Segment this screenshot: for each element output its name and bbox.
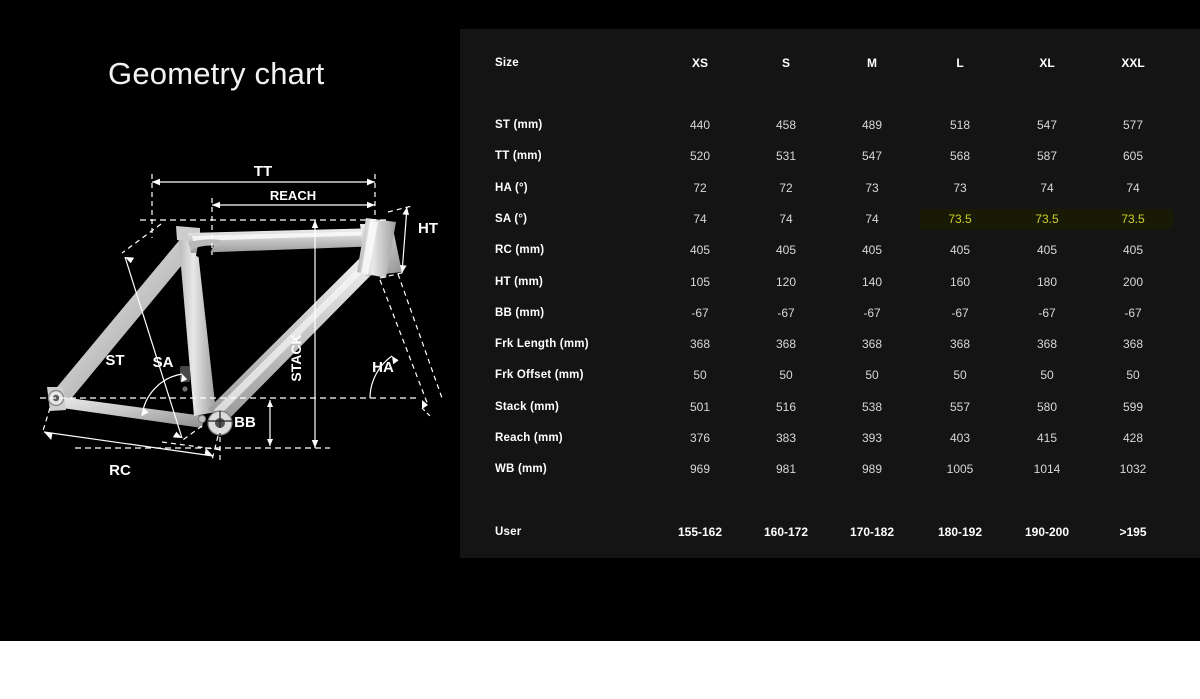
label-bb: BB — [234, 414, 256, 431]
label-reach: REACH — [270, 188, 316, 203]
cell-sa-m: 74 — [827, 206, 917, 232]
cell-user-m: 170-182 — [827, 519, 917, 545]
row-label-tt-mm: TT (mm) — [495, 143, 542, 169]
cell-reach-mm-xl: 415 — [1002, 425, 1092, 451]
page-title: Geometry chart — [108, 56, 324, 92]
cell-bb-mm-xs: -67 — [655, 300, 745, 326]
row-label-ht-mm: HT (mm) — [495, 269, 543, 295]
label-ht: HT — [418, 220, 438, 237]
row-label-wb-mm: WB (mm) — [495, 456, 547, 482]
cell-bb-mm-l: -67 — [915, 300, 1005, 326]
cell-frk-offset-mm-xxl: 50 — [1088, 362, 1178, 388]
table-row: BB (mm)-67-67-67-67-67-67 — [460, 300, 1200, 326]
table-row: ST (mm)440458489518547577 — [460, 112, 1200, 138]
cell-ht-mm-s: 120 — [741, 269, 831, 295]
label-stack: STACK — [288, 334, 304, 381]
cell-rc-mm-m: 405 — [827, 237, 917, 263]
cell-tt-mm-m: 547 — [827, 143, 917, 169]
cell-reach-mm-s: 383 — [741, 425, 831, 451]
cell-tt-mm-xxl: 605 — [1088, 143, 1178, 169]
cell-frk-length-mm-xl: 368 — [1002, 331, 1092, 357]
cell-ha-xs: 72 — [655, 175, 745, 201]
cell-ht-mm-m: 140 — [827, 269, 917, 295]
cell-wb-mm-s: 981 — [741, 456, 831, 482]
cell-tt-mm-xl: 587 — [1002, 143, 1092, 169]
cell-wb-mm-xs: 969 — [655, 456, 745, 482]
cell-rc-mm-xxl: 405 — [1088, 237, 1178, 263]
cell-st-mm-m: 489 — [827, 112, 917, 138]
cell-ht-mm-xxl: 200 — [1088, 269, 1178, 295]
cell-sa-xl: 73.5 — [1002, 206, 1092, 232]
table-row: SA (°)74747473.573.573.5 — [460, 206, 1200, 232]
cell-reach-mm-m: 393 — [827, 425, 917, 451]
column-header-s: S — [741, 50, 831, 76]
table-user-row: User155-162160-172170-182180-192190-200>… — [460, 519, 1200, 545]
row-label-ha: HA (°) — [495, 175, 528, 201]
cell-stack-mm-xl: 580 — [1002, 394, 1092, 420]
row-label-bb-mm: BB (mm) — [495, 300, 544, 326]
cell-sa-s: 74 — [741, 206, 831, 232]
cell-frk-offset-mm-xs: 50 — [655, 362, 745, 388]
cell-stack-mm-l: 557 — [915, 394, 1005, 420]
cell-ht-mm-xs: 105 — [655, 269, 745, 295]
cell-user-l: 180-192 — [915, 519, 1005, 545]
cell-bb-mm-xl: -67 — [1002, 300, 1092, 326]
cell-rc-mm-xs: 405 — [655, 237, 745, 263]
cell-stack-mm-xxl: 599 — [1088, 394, 1178, 420]
table-row: HT (mm)105120140160180200 — [460, 269, 1200, 295]
bottom-white-band — [0, 641, 1200, 699]
cell-sa-xs: 74 — [655, 206, 745, 232]
row-label-rc-mm: RC (mm) — [495, 237, 544, 263]
table-row: TT (mm)520531547568587605 — [460, 143, 1200, 169]
row-label-frk-offset-mm: Frk Offset (mm) — [495, 362, 584, 388]
column-header-xs: XS — [655, 50, 745, 76]
frame-tubes — [47, 218, 402, 435]
cell-rc-mm-s: 405 — [741, 237, 831, 263]
cell-frk-length-mm-xxl: 368 — [1088, 331, 1178, 357]
dark-stage: Geometry chart — [0, 0, 1200, 641]
table-header-row: SizeXSSMLXLXXL — [460, 50, 1200, 76]
cell-sa-xxl: 73.5 — [1088, 206, 1178, 232]
cell-tt-mm-xs: 520 — [655, 143, 745, 169]
cell-frk-length-mm-s: 368 — [741, 331, 831, 357]
cell-ha-xxl: 74 — [1088, 175, 1178, 201]
geometry-table-panel: SizeXSSMLXLXXLST (mm)440458489518547577T… — [460, 29, 1200, 558]
cell-ha-xl: 74 — [1002, 175, 1092, 201]
geometry-table: SizeXSSMLXLXXLST (mm)440458489518547577T… — [460, 29, 1200, 558]
cell-st-mm-l: 518 — [915, 112, 1005, 138]
cell-sa-l: 73.5 — [915, 206, 1005, 232]
label-ha: HA — [372, 359, 394, 376]
row-label-user: User — [495, 519, 521, 545]
geometry-chart-screen: Geometry chart — [0, 0, 1200, 699]
dimension-labels: TT REACH HT ST SA STACK HA BB RC — [105, 163, 438, 479]
table-row: HA (°)727273737474 — [460, 175, 1200, 201]
cell-reach-mm-xs: 376 — [655, 425, 745, 451]
cell-frk-offset-mm-l: 50 — [915, 362, 1005, 388]
row-label-frk-length-mm: Frk Length (mm) — [495, 331, 589, 357]
cell-frk-length-mm-l: 368 — [915, 331, 1005, 357]
column-header-xxl: XXL — [1088, 50, 1178, 76]
table-row: Frk Length (mm)368368368368368368 — [460, 331, 1200, 357]
cell-stack-mm-s: 516 — [741, 394, 831, 420]
left-panel: Geometry chart — [0, 0, 460, 641]
cell-wb-mm-xxl: 1032 — [1088, 456, 1178, 482]
cell-tt-mm-l: 568 — [915, 143, 1005, 169]
row-label-st-mm: ST (mm) — [495, 112, 542, 138]
row-label-reach-mm: Reach (mm) — [495, 425, 563, 451]
cell-frk-offset-mm-m: 50 — [827, 362, 917, 388]
cell-rc-mm-xl: 405 — [1002, 237, 1092, 263]
cell-st-mm-s: 458 — [741, 112, 831, 138]
cell-bb-mm-m: -67 — [827, 300, 917, 326]
row-label-stack-mm: Stack (mm) — [495, 394, 559, 420]
cell-user-xl: 190-200 — [1002, 519, 1092, 545]
cell-frk-length-mm-xs: 368 — [655, 331, 745, 357]
table-row: Stack (mm)501516538557580599 — [460, 394, 1200, 420]
cell-stack-mm-m: 538 — [827, 394, 917, 420]
cell-reach-mm-l: 403 — [915, 425, 1005, 451]
cell-frk-offset-mm-xl: 50 — [1002, 362, 1092, 388]
cell-ht-mm-l: 160 — [915, 269, 1005, 295]
cell-reach-mm-xxl: 428 — [1088, 425, 1178, 451]
cell-st-mm-xs: 440 — [655, 112, 745, 138]
cell-rc-mm-l: 405 — [915, 237, 1005, 263]
cell-ha-m: 73 — [827, 175, 917, 201]
column-header-l: L — [915, 50, 1005, 76]
label-st: ST — [105, 352, 124, 369]
column-header-size: Size — [495, 50, 519, 76]
cell-stack-mm-xs: 501 — [655, 394, 745, 420]
table-row: Reach (mm)376383393403415428 — [460, 425, 1200, 451]
label-tt: TT — [254, 163, 272, 180]
cell-bb-mm-xxl: -67 — [1088, 300, 1178, 326]
table-row: Frk Offset (mm)505050505050 — [460, 362, 1200, 388]
table-row: RC (mm)405405405405405405 — [460, 237, 1200, 263]
cell-user-s: 160-172 — [741, 519, 831, 545]
cell-user-xxl: >195 — [1088, 519, 1178, 545]
cell-ht-mm-xl: 180 — [1002, 269, 1092, 295]
cell-st-mm-xxl: 577 — [1088, 112, 1178, 138]
cell-wb-mm-xl: 1014 — [1002, 456, 1092, 482]
frame-geometry-diagram: TT REACH HT ST SA STACK HA BB RC — [30, 160, 460, 490]
column-header-m: M — [827, 50, 917, 76]
cell-ha-l: 73 — [915, 175, 1005, 201]
cell-st-mm-xl: 547 — [1002, 112, 1092, 138]
column-header-xl: XL — [1002, 50, 1092, 76]
cell-tt-mm-s: 531 — [741, 143, 831, 169]
cell-frk-offset-mm-s: 50 — [741, 362, 831, 388]
cell-bb-mm-s: -67 — [741, 300, 831, 326]
row-label-sa: SA (°) — [495, 206, 527, 232]
cell-wb-mm-l: 1005 — [915, 456, 1005, 482]
cell-frk-length-mm-m: 368 — [827, 331, 917, 357]
cell-wb-mm-m: 989 — [827, 456, 917, 482]
cell-ha-s: 72 — [741, 175, 831, 201]
label-sa: SA — [153, 354, 174, 371]
label-rc: RC — [109, 462, 131, 479]
table-row: WB (mm)969981989100510141032 — [460, 456, 1200, 482]
cell-user-xs: 155-162 — [655, 519, 745, 545]
